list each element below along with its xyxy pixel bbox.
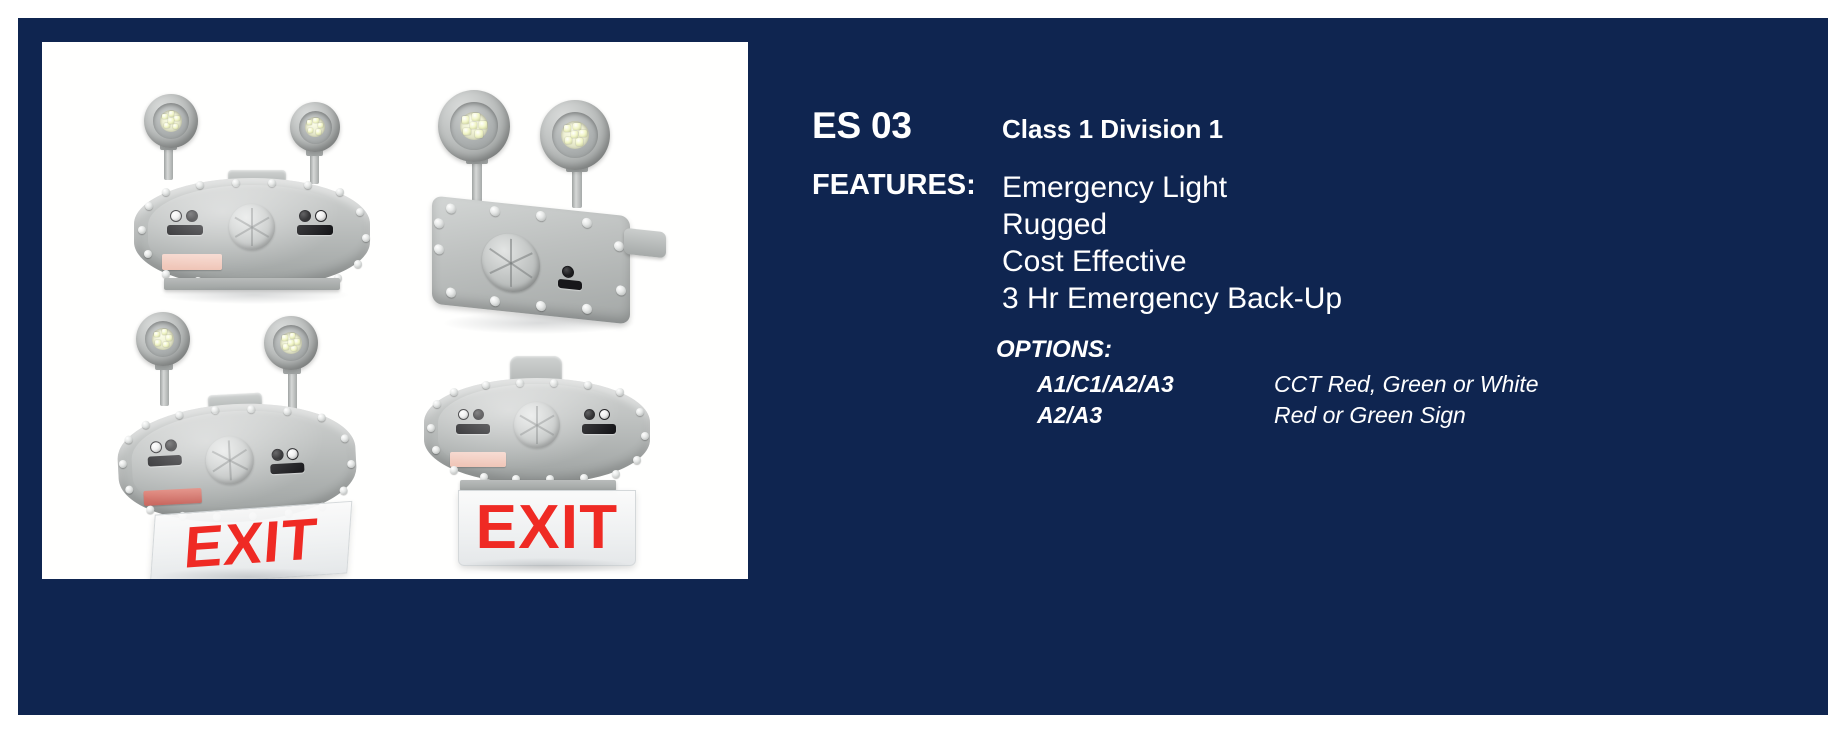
drop-shadow [460,558,632,574]
fixture-body [424,378,650,484]
fixture-enclosure [432,196,630,325]
indicator-plate [558,279,582,291]
drop-shadow [444,312,634,334]
lamp-housing [144,94,198,148]
center-hub [482,231,540,295]
lamp-housing [290,102,340,152]
options-list: A1/C1/A2/A3 CCT Red, Green or White A2/A… [996,369,1539,431]
feature-item: 3 Hr Emergency Back-Up [1002,280,1342,317]
lamp-head-left [134,312,192,416]
option-description: CCT Red, Green or White [1274,369,1539,400]
option-code: A2/A3 [1037,400,1274,431]
status-led-right-b [599,409,610,420]
feature-item: Cost Effective [1002,243,1342,280]
status-led-left-a [170,210,182,222]
class-division: Class 1 Division 1 [1002,114,1223,145]
drop-shadow [160,286,348,304]
lamp-head-right [540,100,614,218]
lamp-head-left [140,94,200,194]
option-description: Red or Green Sign [1274,400,1466,431]
status-led-left-b [165,439,178,452]
lamp-housing [264,316,318,370]
status-led-left-b [186,210,198,222]
indicator-plate-left [456,424,490,434]
product-photo-panel: EXIT [42,42,748,579]
center-hub [205,435,255,485]
fixture-front-view [120,94,382,304]
fixture-angled-side-view [414,90,674,340]
model-code: ES 03 [812,105,1002,147]
fixture-with-exit-sign: EXIT [414,334,680,579]
lamp-housing [136,312,190,366]
lamp-housing [438,90,510,162]
status-led-left-a [150,441,163,454]
lamp-housing [540,100,610,170]
option-code: A1/C1/A2/A3 [1037,369,1274,400]
indicator-plate-right [297,225,333,235]
features-list: Emergency Light Rugged Cost Effective 3 … [1002,169,1342,317]
status-led [562,265,574,278]
feature-item: Emergency Light [1002,169,1342,206]
exit-sign-text: EXIT [476,497,619,559]
lamp-lens [280,332,302,354]
lamp-lens [160,110,182,132]
options-label: OPTIONS: [996,336,1539,364]
conduit-boss [624,228,666,258]
lamp-lens [152,328,174,350]
indicator-plate-right [582,424,616,434]
nameplate-label [162,254,222,270]
status-led-right-b [315,210,327,222]
fixture-with-angled-exit-sign: EXIT [112,312,392,572]
fixture-body [134,178,370,288]
status-led-right-a [271,449,284,462]
nameplate-label [450,452,506,467]
status-led-left-b [473,409,484,420]
drop-shadow [156,568,342,579]
product-spec-card: EXIT [18,18,1828,715]
status-led-left-a [458,409,469,420]
lamp-head-left [438,90,512,208]
model-row: ES 03 Class 1 Division 1 [812,105,1223,147]
nameplate-label [143,488,202,506]
lamp-lens [305,117,325,137]
options-block: OPTIONS: A1/C1/A2/A3 CCT Red, Green or W… [996,336,1539,431]
indicator-plate-left [167,225,203,235]
status-led-right-a [299,210,311,222]
product-info-panel: ES 03 Class 1 Division 1 FEATURES: Emerg… [788,42,1788,582]
option-row: A1/C1/A2/A3 CCT Red, Green or White [1037,369,1539,400]
lamp-lens [561,121,589,149]
exit-sign-panel: EXIT [458,490,636,566]
option-row: A2/A3 Red or Green Sign [1037,400,1539,431]
features-label: FEATURES: [812,169,1002,202]
status-led-right-a [584,409,595,420]
feature-item: Rugged [1002,206,1342,243]
center-hub [229,204,275,250]
features-row: FEATURES: Emergency Light Rugged Cost Ef… [812,169,1342,317]
indicator-plate-right [270,462,304,474]
status-led-right-b [286,448,299,461]
indicator-plate-left [148,455,182,467]
product-photo-stage: EXIT [42,42,748,579]
center-hub [514,402,560,448]
